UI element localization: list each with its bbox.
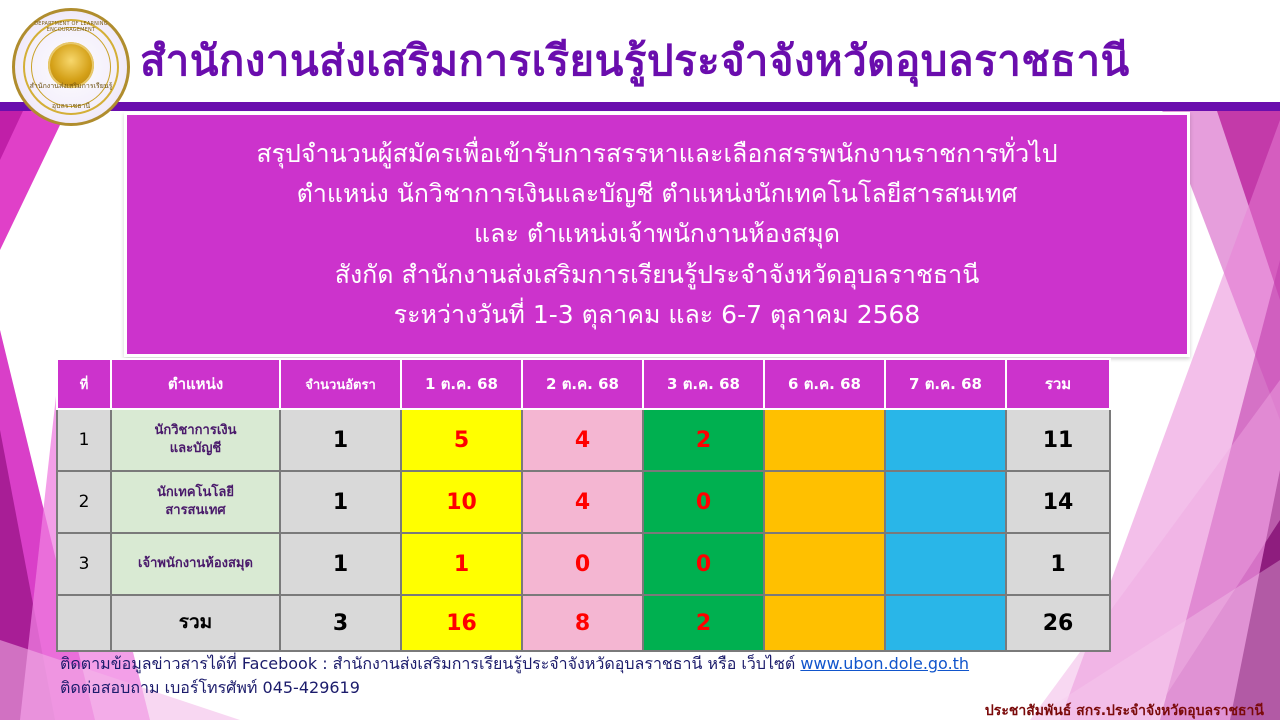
total-sum: 26 xyxy=(1006,595,1110,651)
cell-day-4 xyxy=(764,533,885,595)
cell-day-3: 2 xyxy=(643,409,764,471)
cell-no: 2 xyxy=(57,471,111,533)
header-position: ตำแหน่ง xyxy=(111,359,280,409)
header-day-1: 1 ต.ค. 68 xyxy=(401,359,522,409)
page-title: สำนักงานส่งเสริมการเรียนรู้ประจำจังหวัดอ… xyxy=(140,28,1180,90)
organization-logo: DEPARTMENT OF LEARNING ENCOURAGEMENT สำน… xyxy=(12,8,130,126)
cell-position-line2: สารสนเทศ xyxy=(113,502,278,520)
cell-day-5 xyxy=(885,533,1006,595)
footer-contact: ติดตามข้อมูลข่าวสารได้ที่ Facebook : สำน… xyxy=(60,652,1020,700)
footer-line-1-text: ติดตามข้อมูลข่าวสารได้ที่ Facebook : สำน… xyxy=(60,654,800,673)
cell-total: 11 xyxy=(1006,409,1110,471)
total-day-2: 8 xyxy=(522,595,643,651)
cell-quota: 1 xyxy=(280,409,401,471)
cell-no: 3 xyxy=(57,533,111,595)
logo-bottom-text: อุบลราชธานี xyxy=(15,101,127,112)
table-row: 2 นักเทคโนโลยี สารสนเทศ 1 10 4 0 14 xyxy=(57,471,1110,533)
cell-day-4 xyxy=(764,409,885,471)
cell-total: 1 xyxy=(1006,533,1110,595)
footer-line-1: ติดตามข้อมูลข่าวสารได้ที่ Facebook : สำน… xyxy=(60,652,1020,676)
header-day-5: 7 ต.ค. 68 xyxy=(885,359,1006,409)
cell-quota: 1 xyxy=(280,533,401,595)
cell-position: นักวิชาการเงิน และบัญชี xyxy=(111,409,280,471)
total-quota: 3 xyxy=(280,595,401,651)
cell-day-3: 0 xyxy=(643,533,764,595)
total-blank-cell xyxy=(57,595,111,651)
header-underline xyxy=(0,102,1280,111)
table-head: ที่ ตำแหน่ง จำนวนอัตรา 1 ต.ค. 68 2 ต.ค. … xyxy=(57,359,1110,409)
header-quota: จำนวนอัตรา xyxy=(280,359,401,409)
cell-day-1: 5 xyxy=(401,409,522,471)
cell-total: 14 xyxy=(1006,471,1110,533)
logo-top-text: DEPARTMENT OF LEARNING ENCOURAGEMENT xyxy=(15,21,127,33)
slide-page: DEPARTMENT OF LEARNING ENCOURAGEMENT สำน… xyxy=(0,0,1280,720)
cell-position: นักเทคโนโลยี สารสนเทศ xyxy=(111,471,280,533)
total-label: รวม xyxy=(111,595,280,651)
cell-day-5 xyxy=(885,471,1006,533)
total-day-4 xyxy=(764,595,885,651)
logo-mid-text: สำนักงานส่งเสริมการเรียนรู้ xyxy=(15,81,127,92)
cell-day-1: 10 xyxy=(401,471,522,533)
cell-position-line1: เจ้าพนักงานห้องสมุด xyxy=(113,555,278,573)
cell-position-line1: นักวิชาการเงิน xyxy=(113,422,278,440)
header-day-3: 3 ต.ค. 68 xyxy=(643,359,764,409)
cell-day-2: 0 xyxy=(522,533,643,595)
announcement-line-4: สังกัด สำนักงานส่งเสริมการเรียนรู้ประจำจ… xyxy=(335,257,980,293)
footer-line-2: ติดต่อสอบถาม เบอร์โทรศัพท์ 045-429619 xyxy=(60,676,1020,700)
total-day-3: 2 xyxy=(643,595,764,651)
cell-day-2: 4 xyxy=(522,471,643,533)
table-header-row: ที่ ตำแหน่ง จำนวนอัตรา 1 ต.ค. 68 2 ต.ค. … xyxy=(57,359,1110,409)
announcement-line-5: ระหว่างวันที่ 1-3 ตุลาคม และ 6-7 ตุลาคม … xyxy=(394,297,921,333)
cell-position-line2: และบัญชี xyxy=(113,440,278,458)
table-body: 1 นักวิชาการเงิน และบัญชี 1 5 4 2 11 2 xyxy=(57,409,1110,651)
summary-table-wrapper: ที่ ตำแหน่ง จำนวนอัตรา 1 ต.ค. 68 2 ต.ค. … xyxy=(56,358,1056,652)
cell-quota: 1 xyxy=(280,471,401,533)
table-total-row: รวม 3 16 8 2 26 xyxy=(57,595,1110,651)
header-no: ที่ xyxy=(57,359,111,409)
cell-no: 1 xyxy=(57,409,111,471)
cell-position: เจ้าพนักงานห้องสมุด xyxy=(111,533,280,595)
cell-position-line1: นักเทคโนโลยี xyxy=(113,484,278,502)
announcement-line-2: ตำแหน่ง นักวิชาการเงินและบัญชี ตำแหน่งนั… xyxy=(297,176,1018,212)
cell-day-4 xyxy=(764,471,885,533)
cell-day-2: 4 xyxy=(522,409,643,471)
footer-credit: ประชาสัมพันธ์ สกร.ประจำจังหวัดอุบลราชธาน… xyxy=(985,700,1264,722)
applicant-summary-table: ที่ ตำแหน่ง จำนวนอัตรา 1 ต.ค. 68 2 ต.ค. … xyxy=(56,358,1111,652)
announcement-line-3: และ ตำแหน่งเจ้าพนักงานห้องสมุด xyxy=(474,216,840,252)
announcement-line-1: สรุปจำนวนผู้สมัครเพื่อเข้ารับการสรรหาและ… xyxy=(256,136,1057,172)
cell-day-3: 0 xyxy=(643,471,764,533)
table-row: 3 เจ้าพนักงานห้องสมุด 1 1 0 0 1 xyxy=(57,533,1110,595)
announcement-box: สรุปจำนวนผู้สมัครเพื่อเข้ารับการสรรหาและ… xyxy=(124,112,1190,357)
cell-day-5 xyxy=(885,409,1006,471)
total-day-5 xyxy=(885,595,1006,651)
website-link[interactable]: www.ubon.dole.go.th xyxy=(800,654,969,673)
cell-day-1: 1 xyxy=(401,533,522,595)
table-row: 1 นักวิชาการเงิน และบัญชี 1 5 4 2 11 xyxy=(57,409,1110,471)
header-day-2: 2 ต.ค. 68 xyxy=(522,359,643,409)
header-total: รวม xyxy=(1006,359,1110,409)
header-day-4: 6 ต.ค. 68 xyxy=(764,359,885,409)
total-day-1: 16 xyxy=(401,595,522,651)
